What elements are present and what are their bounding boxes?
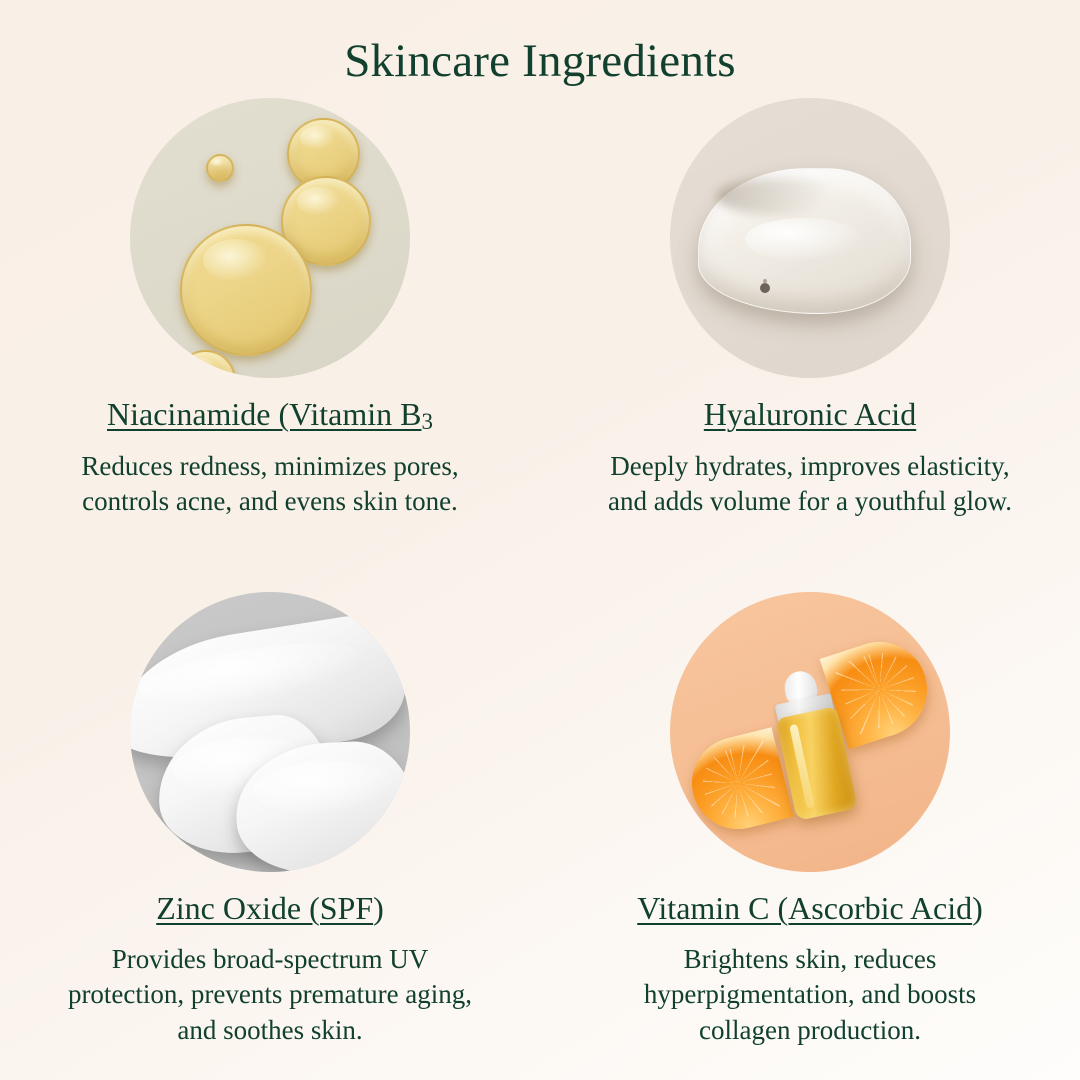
vitamin-c-serum-bottle-image xyxy=(670,592,950,872)
ingredient-title-main: Niacinamide xyxy=(107,396,278,432)
gel-blob-icon xyxy=(698,168,911,314)
ingredient-title-main: Hyaluronic Acid xyxy=(704,396,916,432)
ingredient-title-close-paren: ) xyxy=(373,890,384,926)
ingredient-title-subscript: 3 xyxy=(421,408,433,434)
ingredient-title-paren: (Vitamin B xyxy=(279,396,422,432)
ingredient-title-main: Zinc Oxide xyxy=(156,890,309,926)
swatch-frame-hyaluronic-acid xyxy=(665,93,955,383)
ingredient-description-niacinamide: Reduces redness, minimizes pores, contro… xyxy=(55,449,485,519)
ingredient-card-zinc-oxide: Zinc Oxide (SPF) Provides broad-spectrum… xyxy=(0,587,540,1080)
ingredient-title-zinc-oxide: Zinc Oxide (SPF) xyxy=(156,891,384,927)
ingredient-description-zinc-oxide: Provides broad-spectrum UV protection, p… xyxy=(55,942,485,1047)
swatch-frame-vitamin-c xyxy=(665,587,955,877)
skincare-ingredients-infographic: Skincare Ingredients Niacinamide (Vitami… xyxy=(0,0,1080,1080)
swatch-frame-niacinamide xyxy=(125,93,415,383)
page-title: Skincare Ingredients xyxy=(344,38,736,85)
ingredient-title-paren: (Ascorbic Acid xyxy=(778,890,973,926)
golden-oil-droplets-swatch-image xyxy=(130,98,410,378)
ingredient-card-niacinamide: Niacinamide (Vitamin B3 Reduces redness,… xyxy=(0,93,540,587)
ingredient-grid: Niacinamide (Vitamin B3 Reduces redness,… xyxy=(0,93,1080,1080)
white-cream-swatches-image xyxy=(130,592,410,872)
ingredient-title-vitamin-c: Vitamin C (Ascorbic Acid) xyxy=(637,891,983,927)
ingredient-title-close-paren: ) xyxy=(972,890,983,926)
ingredient-title-niacinamide: Niacinamide (Vitamin B3 xyxy=(107,397,433,433)
ingredient-description-hyaluronic-acid: Deeply hydrates, improves elasticity, an… xyxy=(595,449,1025,519)
ingredient-description-vitamin-c: Brightens skin, reduces hyperpigmentatio… xyxy=(595,942,1025,1047)
swatch-frame-zinc-oxide xyxy=(125,587,415,877)
ingredient-card-vitamin-c: Vitamin C (Ascorbic Acid) Brightens skin… xyxy=(540,587,1080,1080)
ingredient-title-hyaluronic-acid: Hyaluronic Acid xyxy=(704,397,916,433)
clear-gel-serum-blob-image xyxy=(670,98,950,378)
ingredient-card-hyaluronic-acid: Hyaluronic Acid Deeply hydrates, improve… xyxy=(540,93,1080,587)
ingredient-title-paren: (SPF xyxy=(309,890,373,926)
oil-droplet-icon xyxy=(180,224,312,356)
oil-droplet-icon xyxy=(206,154,234,182)
ingredient-title-main: Vitamin C xyxy=(637,890,777,926)
gel-bubble-icon xyxy=(760,283,770,293)
